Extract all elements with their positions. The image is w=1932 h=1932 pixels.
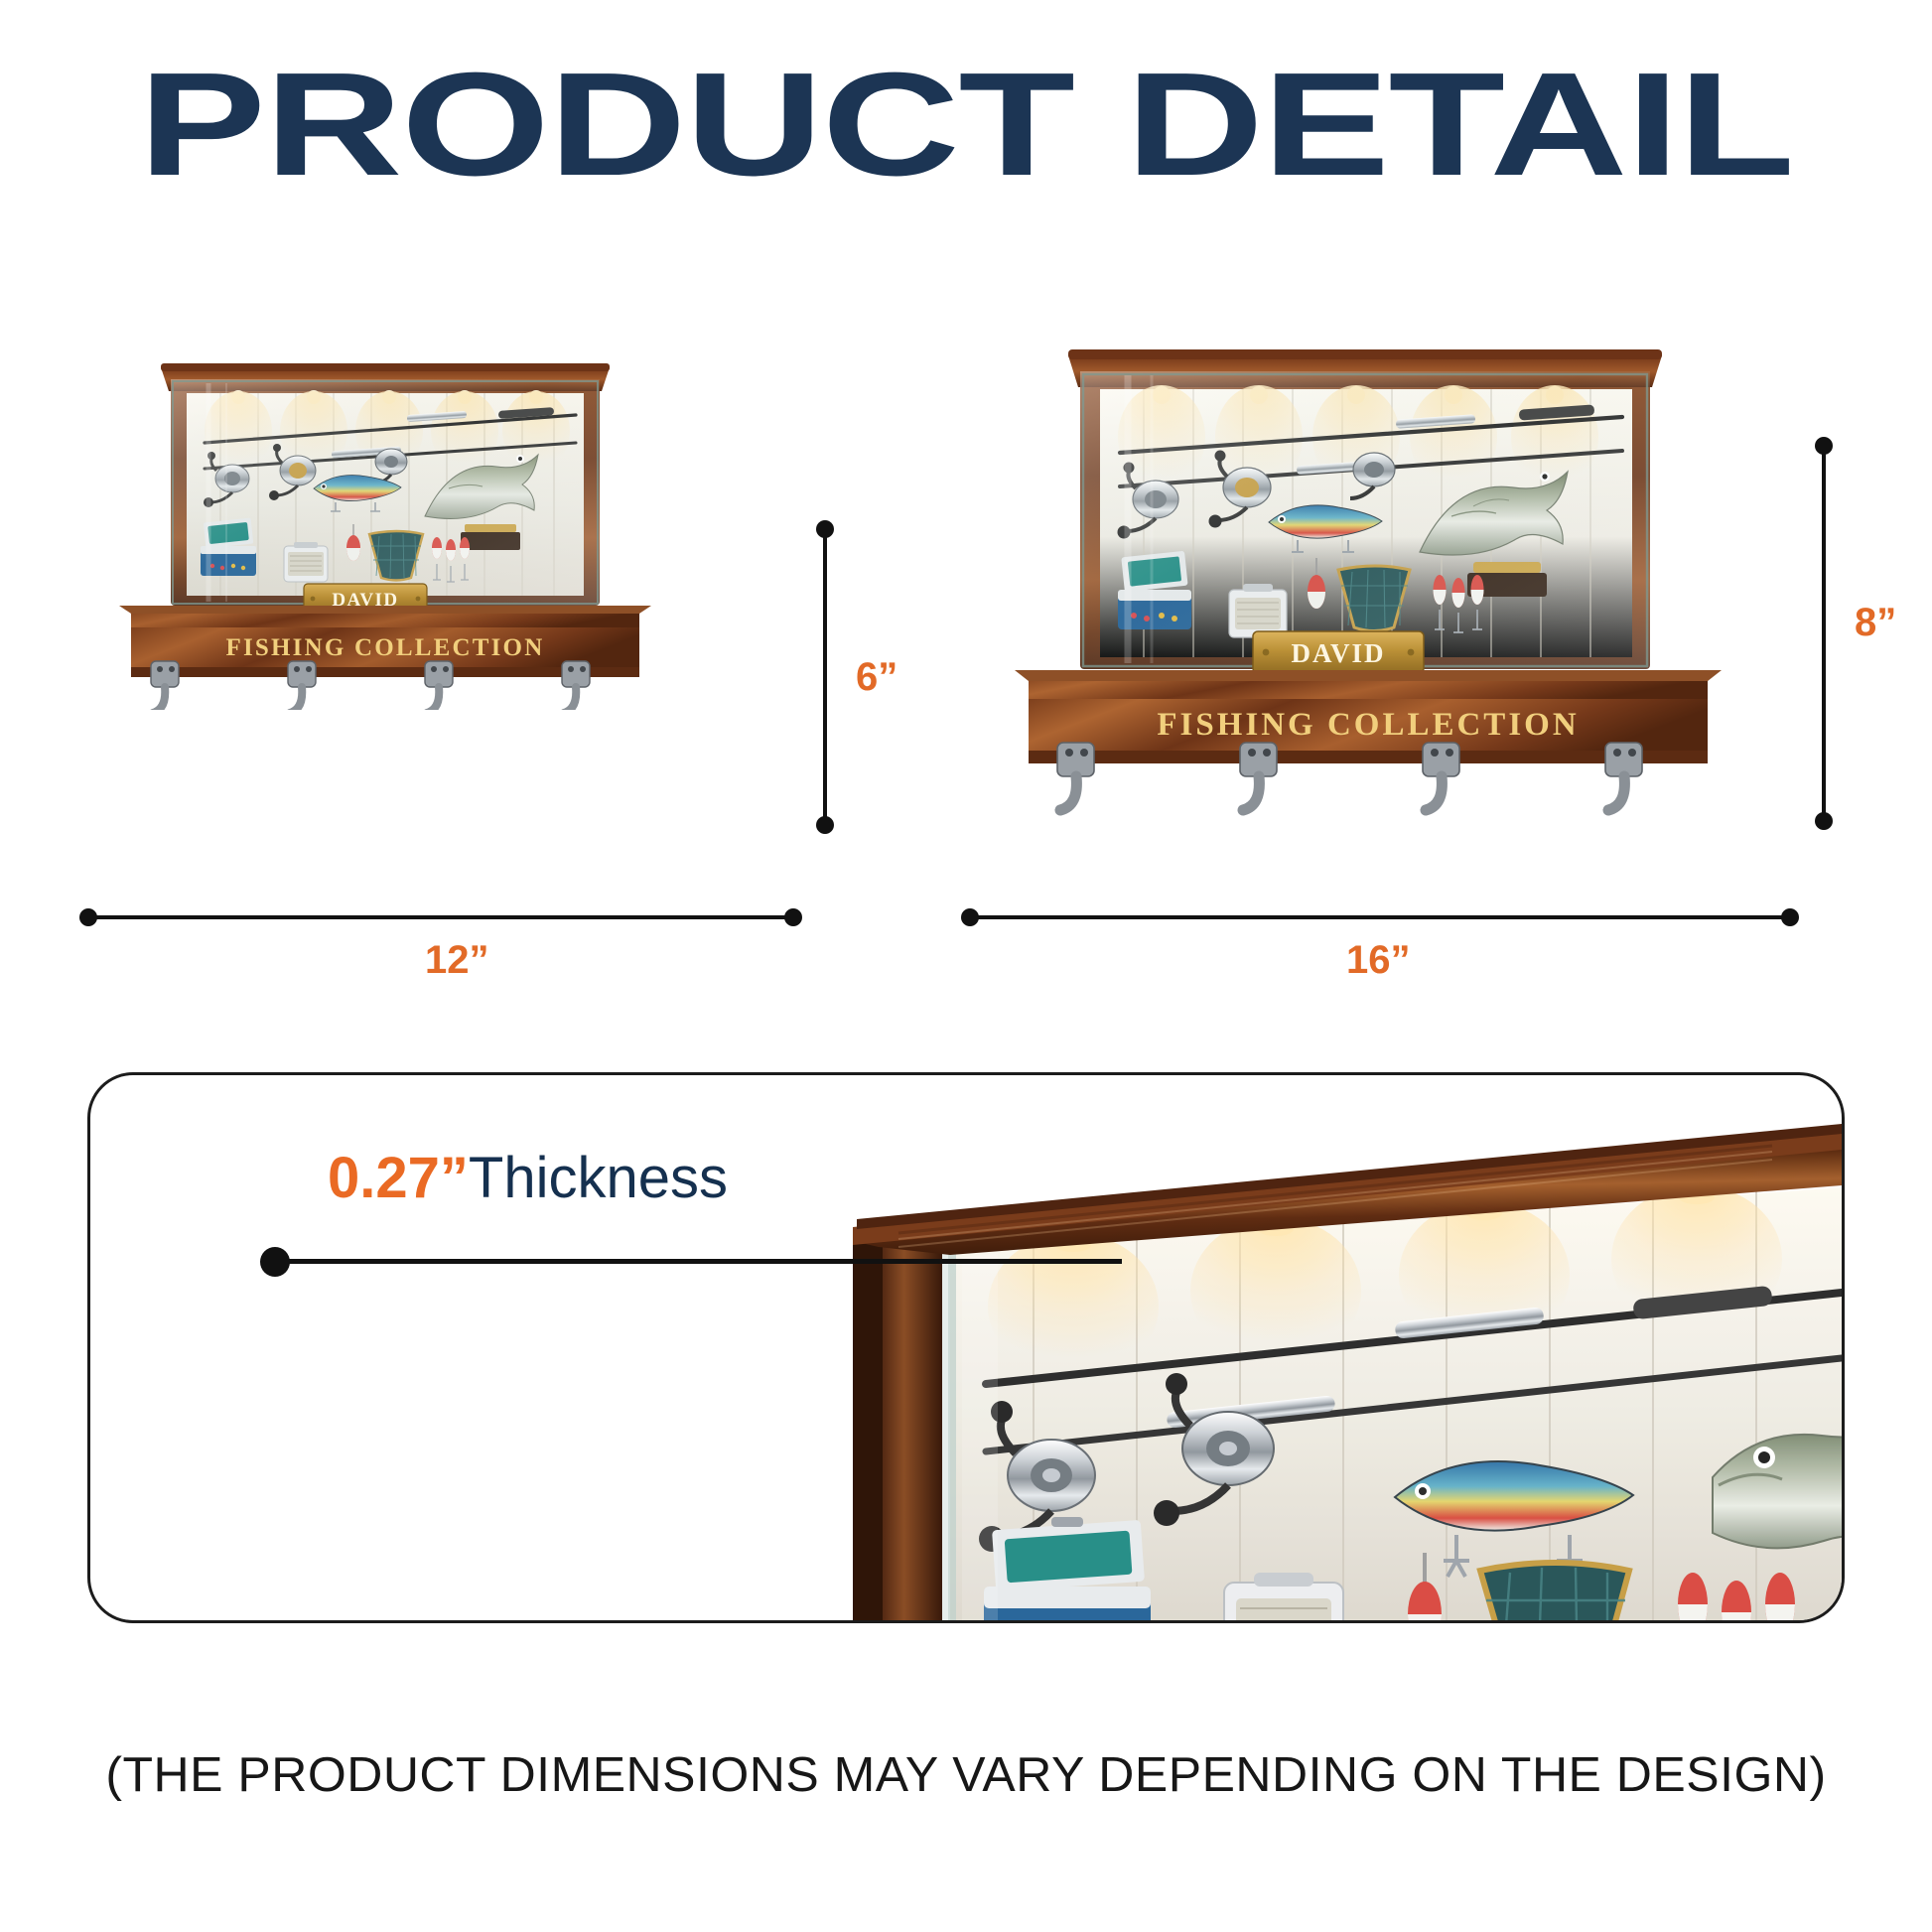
dim-line-small-width (88, 915, 793, 919)
disclaimer-text: (THE PRODUCT DIMENSIONS MAY VARY DEPENDI… (0, 1747, 1932, 1803)
thickness-value: 0.27” (328, 1146, 469, 1210)
dim-line-small-height (823, 529, 827, 822)
product-image-large: DAVID FISHING COLLECTION (1003, 345, 1757, 862)
product-image-small: DAVID FISHING COLLECTION (109, 357, 685, 710)
product-detail-page: PRODUCT DETAIL (0, 0, 1932, 1932)
dim-label-small-width: 12” (425, 938, 489, 983)
dim-dot-large-right (1781, 908, 1799, 926)
dim-dot-small-bottom (816, 816, 834, 834)
thickness-leader-dot (260, 1247, 290, 1277)
dim-dot-small-right (784, 908, 802, 926)
dim-dot-large-bottom (1815, 812, 1833, 830)
dim-label-large-height: 8” (1855, 601, 1896, 645)
page-title: PRODUCT DETAIL (0, 52, 1932, 199)
thickness-label: 0.27”Thickness (328, 1150, 728, 1207)
thickness-leader-line (288, 1259, 1122, 1264)
dim-label-large-width: 16” (1346, 938, 1411, 983)
dim-line-large-height (1822, 446, 1826, 819)
svg-text:DAVID: DAVID (1291, 638, 1385, 668)
thickness-word: Thickness (469, 1146, 728, 1210)
product-image-closeup (839, 1124, 1842, 1620)
svg-text:FISHING COLLECTION: FISHING COLLECTION (226, 634, 545, 661)
nameplate: DAVID (1253, 631, 1424, 673)
dim-line-large-width (970, 915, 1790, 919)
svg-text:FISHING COLLECTION: FISHING COLLECTION (1157, 707, 1579, 743)
dim-label-small-height: 6” (856, 655, 897, 700)
